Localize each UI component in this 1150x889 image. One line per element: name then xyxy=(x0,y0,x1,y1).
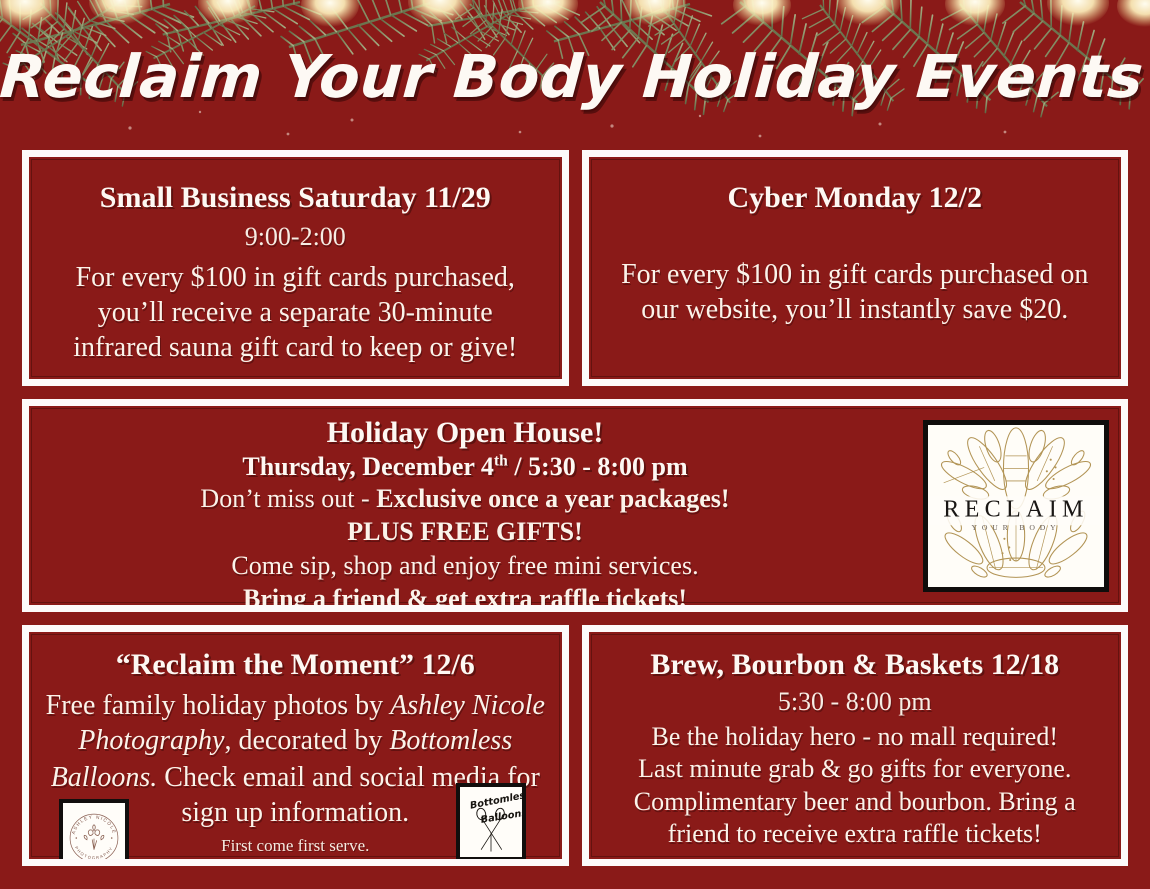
event-description: For every $100 in gift cards purchased, … xyxy=(73,260,517,365)
event-time: 5:30 - 8:00 pm xyxy=(778,686,932,717)
event-description-line: For every $100 in gift cards purchased, xyxy=(73,260,517,295)
event-description: Free family holiday photos by Ashley Nic… xyxy=(46,688,545,758)
event-description: Be the holiday hero - no mall required! … xyxy=(634,721,1076,851)
desc-text: Free family holiday photos by xyxy=(46,690,391,721)
event-date-ordinal: th xyxy=(494,452,508,469)
event-description-line: Complimentary beer and bourbon. Bring a xyxy=(634,786,1076,819)
event-heading: Cyber Monday 12/2 xyxy=(728,181,982,215)
bottomless-balloons-logo: Bottomless Balloons xyxy=(456,783,526,861)
event-card-small-business-saturday[interactable]: Small Business Saturday 11/29 9:00-2:00 … xyxy=(22,150,569,386)
event-date-prefix: Thursday, December 4 xyxy=(242,452,494,481)
events-grid: Small Business Saturday 11/29 9:00-2:00 … xyxy=(22,150,1128,866)
event-heading: Holiday Open House! xyxy=(327,416,604,450)
photographer-name: Ashley Nicole xyxy=(390,690,545,721)
event-description-line: our website, you’ll instantly save $20. xyxy=(621,292,1088,327)
offer-regular-text: Don’t miss out - xyxy=(200,484,376,513)
svg-text:RECLAIM: RECLAIM xyxy=(943,497,1089,523)
event-card-brew-bourbon-baskets[interactable]: Brew, Bourbon & Baskets 12/18 5:30 - 8:0… xyxy=(582,625,1129,866)
photographer-name-cont: Photography xyxy=(78,725,224,756)
event-free-gifts-line: PLUS FREE GIFTS! xyxy=(347,516,583,549)
event-heading: Small Business Saturday 11/29 xyxy=(100,181,491,215)
ashley-nicole-photography-logo: ASHLEY NICOLE PHOTOGRAPHY xyxy=(59,799,129,866)
offer-bold-text: Exclusive once a year packages! xyxy=(376,484,729,513)
event-card-cyber-monday[interactable]: Cyber Monday 12/2 For every $100 in gift… xyxy=(582,150,1129,386)
event-time: 9:00-2:00 xyxy=(245,221,346,252)
event-heading: “Reclaim the Moment” 12/6 xyxy=(116,648,475,682)
holiday-events-flyer: Reclaim Your Body Holiday Events 2025 Sm… xyxy=(0,0,1150,889)
event-description-line: Photography, decorated by Bottomless xyxy=(46,723,545,758)
balloons-logo-art: Bottomless Balloons xyxy=(460,787,522,857)
page-title: Reclaim Your Body Holiday Events 2025 xyxy=(0,42,1150,111)
event-date-time: Thursday, December 4th / 5:30 - 8:00 pm xyxy=(242,452,687,481)
event-description-line: Be the holiday hero - no mall required! xyxy=(634,721,1076,754)
events-row-top: Small Business Saturday 11/29 9:00-2:00 … xyxy=(22,150,1128,386)
desc-text: , decorated by xyxy=(225,725,390,756)
event-offer-line: Don’t miss out - Exclusive once a year p… xyxy=(200,483,729,516)
moment-lower-block: ASHLEY NICOLE PHOTOGRAPHY xyxy=(43,760,548,866)
reclaim-logo-art: RECLAIM YOUR BODY xyxy=(928,425,1104,587)
event-description-line: infrared sauna gift card to keep or give… xyxy=(73,330,517,365)
event-card-holiday-open-house[interactable]: Holiday Open House! Thursday, December 4… xyxy=(22,399,1128,612)
event-description-line: Free family holiday photos by Ashley Nic… xyxy=(46,688,545,723)
event-description-line: Last minute grab & go gifts for everyone… xyxy=(634,753,1076,786)
event-card-reclaim-the-moment[interactable]: “Reclaim the Moment” 12/6 Free family ho… xyxy=(22,625,569,866)
event-heading: Brew, Bourbon & Baskets 12/18 xyxy=(650,648,1059,682)
event-raffle-line: Bring a friend & get extra raffle ticket… xyxy=(243,583,687,612)
event-date-suffix: / 5:30 - 8:00 pm xyxy=(508,452,688,481)
event-services-line: Come sip, shop and enjoy free mini servi… xyxy=(231,550,698,583)
event-description: For every $100 in gift cards purchased o… xyxy=(621,257,1088,327)
events-row-middle: Holiday Open House! Thursday, December 4… xyxy=(22,399,1128,612)
event-description-line: friend to receive extra raffle tickets! xyxy=(634,818,1076,851)
decorator-name-cont: Balloons. xyxy=(51,762,158,793)
event-description-line: For every $100 in gift cards purchased o… xyxy=(621,257,1088,292)
events-row-bottom: “Reclaim the Moment” 12/6 Free family ho… xyxy=(22,625,1128,866)
reclaim-your-body-logo: RECLAIM YOUR BODY xyxy=(923,420,1109,592)
decorator-name: Bottomless xyxy=(389,725,512,756)
event-description-line: you’ll receive a separate 30-minute xyxy=(73,295,517,330)
flyer-header: Reclaim Your Body Holiday Events 2025 xyxy=(0,0,1150,148)
photography-badge-art: ASHLEY NICOLE PHOTOGRAPHY xyxy=(63,803,125,866)
svg-text:YOUR BODY: YOUR BODY xyxy=(972,523,1061,532)
